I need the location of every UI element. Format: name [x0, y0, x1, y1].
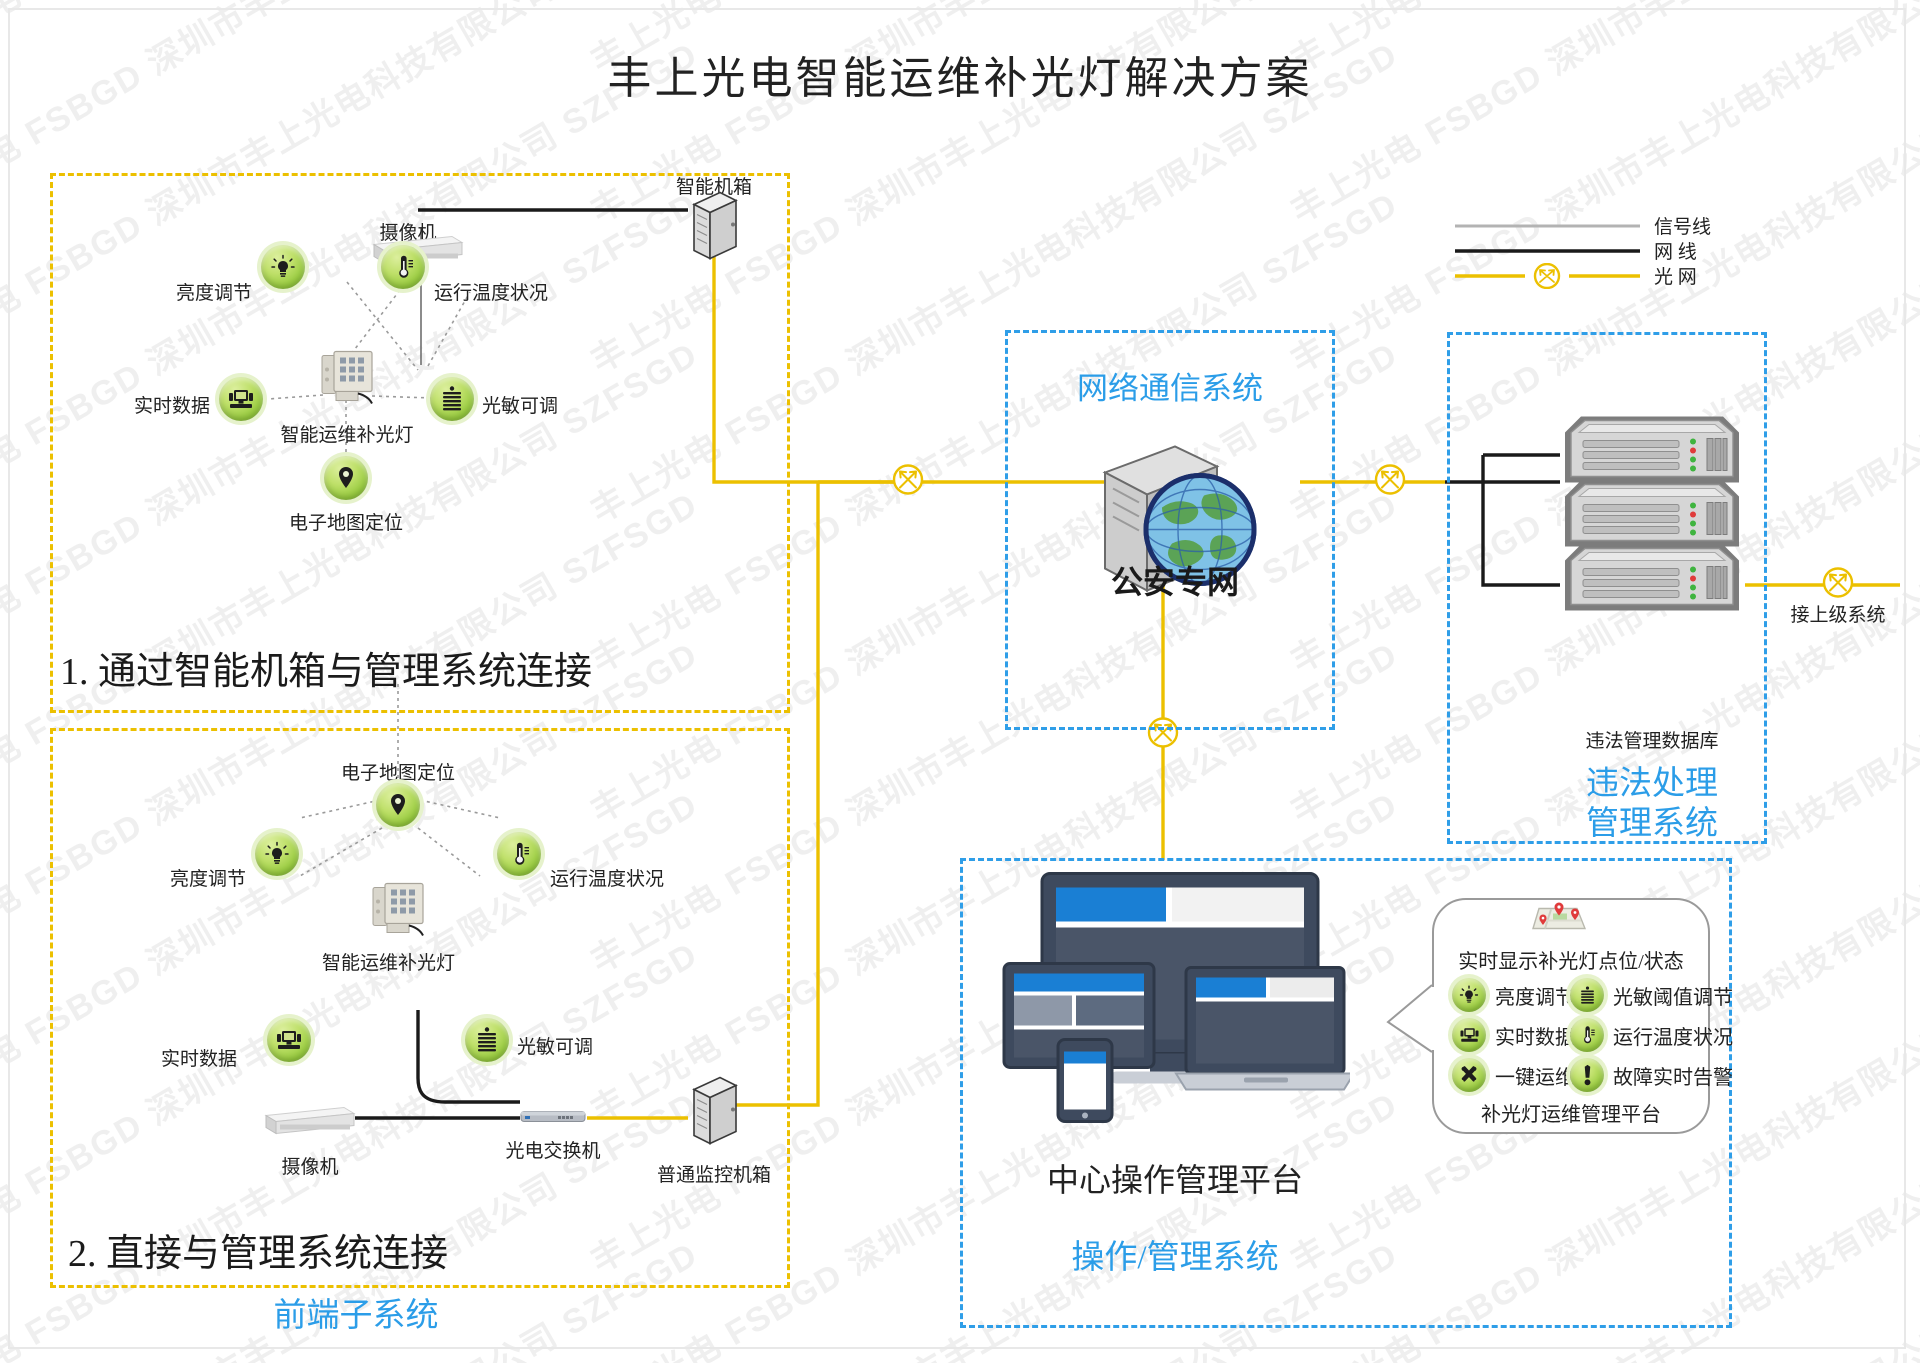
camera-icon-2: [262, 1100, 358, 1147]
front-end-system-label: 前端子系统: [274, 1288, 439, 1336]
legend: 信号线 网 线 光 网: [1455, 212, 1875, 282]
tools-icon: [1459, 1065, 1479, 1085]
watermark-text: 丰上光电 FSBGD 深圳市丰上光电科技有限公司 SZFSGD: [0, 627, 6, 1132]
gicon-photosensor-1[interactable]: [430, 377, 474, 421]
section1-feature-label-map: 电子地图定位: [289, 508, 403, 535]
page-title: 丰上光电智能运维补光灯解决方案: [0, 42, 1920, 106]
optical-node-icon-trunk-right: [1373, 463, 1407, 502]
watermark-text: 丰上光电 FSBGD 深圳市丰上光电科技有限公司 SZFSGD: [0, 477, 6, 982]
monitor-icon: [1459, 1026, 1480, 1044]
network-system-label: 网络通信系统: [1077, 363, 1263, 408]
operation-platform-label: 中心操作管理平台: [1047, 1155, 1303, 1201]
bubble-feature-label-0: 亮度调节: [1495, 981, 1575, 1010]
server-icon-3: [1557, 539, 1747, 628]
bubble-feature-5[interactable]: 故障实时告警: [1570, 1058, 1733, 1092]
bubble-map-caption: 实时显示补光灯点位/状态: [1432, 945, 1710, 974]
gicon-realtime-data-1[interactable]: [219, 377, 263, 421]
smart-lamp-icon-1: [316, 350, 378, 411]
network-node-label: 公安专网: [1111, 557, 1239, 603]
watermark-text: 丰上光电 FSBGD 深圳市丰上光电科技有限公司 SZFSGD: [0, 927, 6, 1363]
monitor-icon: [275, 1028, 303, 1052]
thermometer-icon: [506, 841, 532, 867]
bulb-icon: [270, 254, 296, 280]
alert-icon: [1582, 1064, 1593, 1086]
gicon-bubble-tools: [1452, 1058, 1486, 1092]
section2-heading: 2. 直接与管理系统连接: [68, 1222, 448, 1277]
gicon-brightness-1[interactable]: [261, 245, 305, 289]
gicon-map-2[interactable]: [376, 783, 420, 827]
ordinary-cabinet-icon: [686, 1074, 742, 1153]
bubble-feature-0[interactable]: 亮度调节: [1452, 978, 1575, 1012]
legend-label-signal: 信号线: [1654, 212, 1711, 239]
gicon-realtime-data-2[interactable]: [267, 1018, 311, 1062]
smart-lamp-icon-2: [367, 882, 429, 943]
section1-feature-label-photosensor: 光敏可调: [482, 391, 558, 418]
monitor-icon: [227, 387, 255, 411]
section2-camera-label: 摄像机: [281, 1152, 338, 1179]
smart-cabinet-icon: [686, 189, 742, 268]
thermometer-icon: [390, 254, 416, 280]
gicon-photosensor-2[interactable]: [465, 1018, 509, 1062]
bubble-feature-2[interactable]: 实时数据: [1452, 1018, 1575, 1052]
section2-feature-label-temperature: 运行温度状况: [550, 864, 664, 891]
watermark-text: 丰上光电 FSBGD 深圳市丰上光电科技有限公司 SZFSGD: [0, 1227, 6, 1363]
section2-box: [50, 728, 790, 1288]
bubble-feature-label-3: 运行温度状况: [1613, 1021, 1733, 1050]
legend-row-network: 网 线: [1455, 237, 1697, 264]
optical-node-icon-uplink: [1821, 566, 1855, 605]
section2-feature-label-map: 电子地图定位: [341, 758, 455, 785]
gicon-brightness-2[interactable]: [255, 832, 299, 876]
violation-server-label-2: 违法管理数据库: [1585, 726, 1718, 753]
gicon-bubble-alert: [1570, 1058, 1604, 1092]
uplink-label: 接上级系统: [1790, 600, 1885, 627]
section2-feature-label-realtime: 实时数据: [161, 1044, 237, 1071]
section1-feature-label-temperature: 运行温度状况: [434, 278, 548, 305]
watermark-text: 丰上光电 FSBGD 深圳市丰上光电科技有限公司 SZFSGD: [0, 777, 6, 1282]
section1-feature-label-brightness: 亮度调节: [176, 278, 252, 305]
photosensor-icon: [475, 1026, 499, 1054]
bubble-feature-1[interactable]: 光敏阈值调节: [1570, 978, 1733, 1012]
legend-line-gray: [1455, 219, 1640, 233]
section2-center-label: 智能运维补光灯: [322, 948, 455, 975]
device-cluster-icon: [1000, 868, 1350, 1153]
photosensor-icon: [440, 385, 464, 413]
bulb-icon: [264, 841, 290, 867]
bubble-feature-label-5: 故障实时告警: [1613, 1061, 1733, 1090]
watermark-text: 丰上光电 FSBGD 深圳市丰上光电科技有限公司 SZFSGD: [0, 1077, 6, 1363]
section2-feature-label-photosensor: 光敏可调: [517, 1032, 593, 1059]
thermometer-icon: [1577, 1025, 1597, 1045]
legend-label-network: 网 线: [1654, 237, 1697, 264]
bubble-feature-label-1: 光敏阈值调节: [1613, 981, 1733, 1010]
operation-system-label: 操作/管理系统: [1071, 1230, 1278, 1278]
legend-row-signal: 信号线: [1455, 212, 1711, 239]
watermark-text: 丰上光电 FSBGD 深圳市丰上光电科技有限公司 SZFSGD: [0, 177, 6, 682]
map-pin-icon: [388, 792, 408, 818]
network-node-text: 公安专网: [1111, 564, 1239, 600]
optical-switch-icon: [520, 1109, 586, 1130]
map-pin-icon: [336, 465, 356, 491]
violation-system-label-line2: 管理系统: [1586, 796, 1718, 844]
gicon-temperature-1[interactable]: [381, 245, 425, 289]
map-thumbnail-icon: [1525, 901, 1591, 940]
watermark-text: 丰上光电 FSBGD 深圳市丰上光电科技有限公司 SZFSGD: [0, 327, 6, 832]
gicon-bubble-photosensor: [1570, 978, 1604, 1012]
section1-center-label: 智能运维补光灯: [280, 420, 413, 447]
bubble-feature-label-4: 一键运维: [1495, 1061, 1575, 1090]
optical-node-icon-trunk-left: [891, 463, 925, 502]
gicon-temperature-2[interactable]: [497, 832, 541, 876]
section2-switch-label: 光电交换机: [505, 1136, 600, 1163]
section1-heading: 1. 通过智能机箱与管理系统连接: [60, 640, 592, 695]
gicon-bubble-brightness: [1452, 978, 1486, 1012]
legend-line-yellow: [1455, 263, 1640, 289]
watermark-text: 丰上光电 FSBGD 深圳市丰上光电科技有限公司 SZFSGD: [0, 0, 6, 232]
gicon-bubble-realtime: [1452, 1018, 1486, 1052]
bubble-footer-label: 补光灯运维管理平台: [1432, 1098, 1710, 1127]
bulb-icon: [1459, 985, 1479, 1005]
gicon-bubble-temperature: [1570, 1018, 1604, 1052]
diagram-canvas: 丰上光电 FSBGD 深圳市丰上光电科技有限公司 SZFSGD丰上光电 FSBG…: [0, 0, 1920, 1363]
bubble-feature-3[interactable]: 运行温度状况: [1570, 1018, 1733, 1052]
bubble-feature-label-2: 实时数据: [1495, 1021, 1575, 1050]
gicon-map-1[interactable]: [324, 456, 368, 500]
bubble-feature-4[interactable]: 一键运维: [1452, 1058, 1575, 1092]
legend-row-optical: 光 网: [1455, 262, 1697, 289]
legend-label-optical: 光 网: [1654, 262, 1697, 289]
section2-cabinet-label: 普通监控机箱: [657, 1160, 771, 1187]
section1-feature-label-realtime: 实时数据: [134, 391, 210, 418]
photosensor-icon: [1579, 985, 1596, 1006]
legend-line-black: [1455, 244, 1640, 258]
section2-feature-label-brightness: 亮度调节: [170, 864, 246, 891]
